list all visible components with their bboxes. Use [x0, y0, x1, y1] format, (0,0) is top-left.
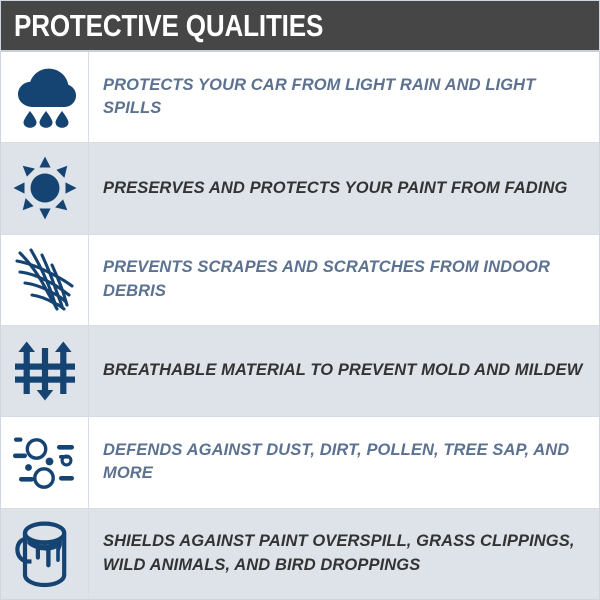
feature-row-breathable: BREATHABLE MATERIAL TO PREVENT MOLD AND … [1, 326, 599, 417]
feature-row-rain: PROTECTS YOUR CAR FROM LIGHT RAIN AND LI… [1, 52, 599, 143]
feature-row-scratches: PREVENTS SCRAPES AND SCRATCHES FROM INDO… [1, 235, 599, 326]
feature-row-paint: SHIELDS AGAINST PAINT OVERSPILL, GRASS C… [1, 509, 599, 599]
scratched-mesh-icon [14, 248, 76, 312]
text-cell: PROTECTS YOUR CAR FROM LIGHT RAIN AND LI… [89, 52, 599, 142]
text-cell: PRESERVES AND PROTECTS YOUR PAINT FROM F… [89, 143, 599, 233]
feature-text: PRESERVES AND PROTECTS YOUR PAINT FROM F… [103, 177, 567, 200]
feature-text: SHIELDS AGAINST PAINT OVERSPILL, GRASS C… [103, 530, 585, 577]
icon-cell [1, 143, 89, 233]
breathable-airflow-icon [14, 340, 76, 402]
text-cell: PREVENTS SCRAPES AND SCRATCHES FROM INDO… [89, 235, 599, 325]
feature-row-sun: PRESERVES AND PROTECTS YOUR PAINT FROM F… [1, 143, 599, 234]
sun-icon [13, 156, 77, 220]
icon-cell [1, 235, 89, 325]
icon-cell [1, 509, 89, 599]
feature-row-dust: DEFENDS AGAINST DUST, DIRT, POLLEN, TREE… [1, 417, 599, 508]
icon-cell [1, 52, 89, 142]
panel-header: PROTECTIVE QUALITIES [1, 1, 599, 52]
text-cell: SHIELDS AGAINST PAINT OVERSPILL, GRASS C… [89, 509, 599, 599]
feature-text: BREATHABLE MATERIAL TO PREVENT MOLD AND … [103, 359, 582, 382]
protective-qualities-panel: PROTECTIVE QUALITIES PROTECTS YOUR CAR F… [0, 0, 600, 600]
icon-cell [1, 417, 89, 507]
dust-particles-icon [11, 433, 79, 491]
text-cell: BREATHABLE MATERIAL TO PREVENT MOLD AND … [89, 326, 599, 416]
feature-text: PROTECTS YOUR CAR FROM LIGHT RAIN AND LI… [103, 74, 585, 121]
paint-can-icon [14, 520, 76, 588]
feature-text: PREVENTS SCRAPES AND SCRATCHES FROM INDO… [103, 256, 585, 303]
rain-cloud-icon [13, 66, 77, 128]
feature-text: DEFENDS AGAINST DUST, DIRT, POLLEN, TREE… [103, 439, 585, 486]
icon-cell [1, 326, 89, 416]
text-cell: DEFENDS AGAINST DUST, DIRT, POLLEN, TREE… [89, 417, 599, 507]
feature-list: PROTECTS YOUR CAR FROM LIGHT RAIN AND LI… [1, 52, 599, 599]
page-title: PROTECTIVE QUALITIES [14, 10, 323, 41]
